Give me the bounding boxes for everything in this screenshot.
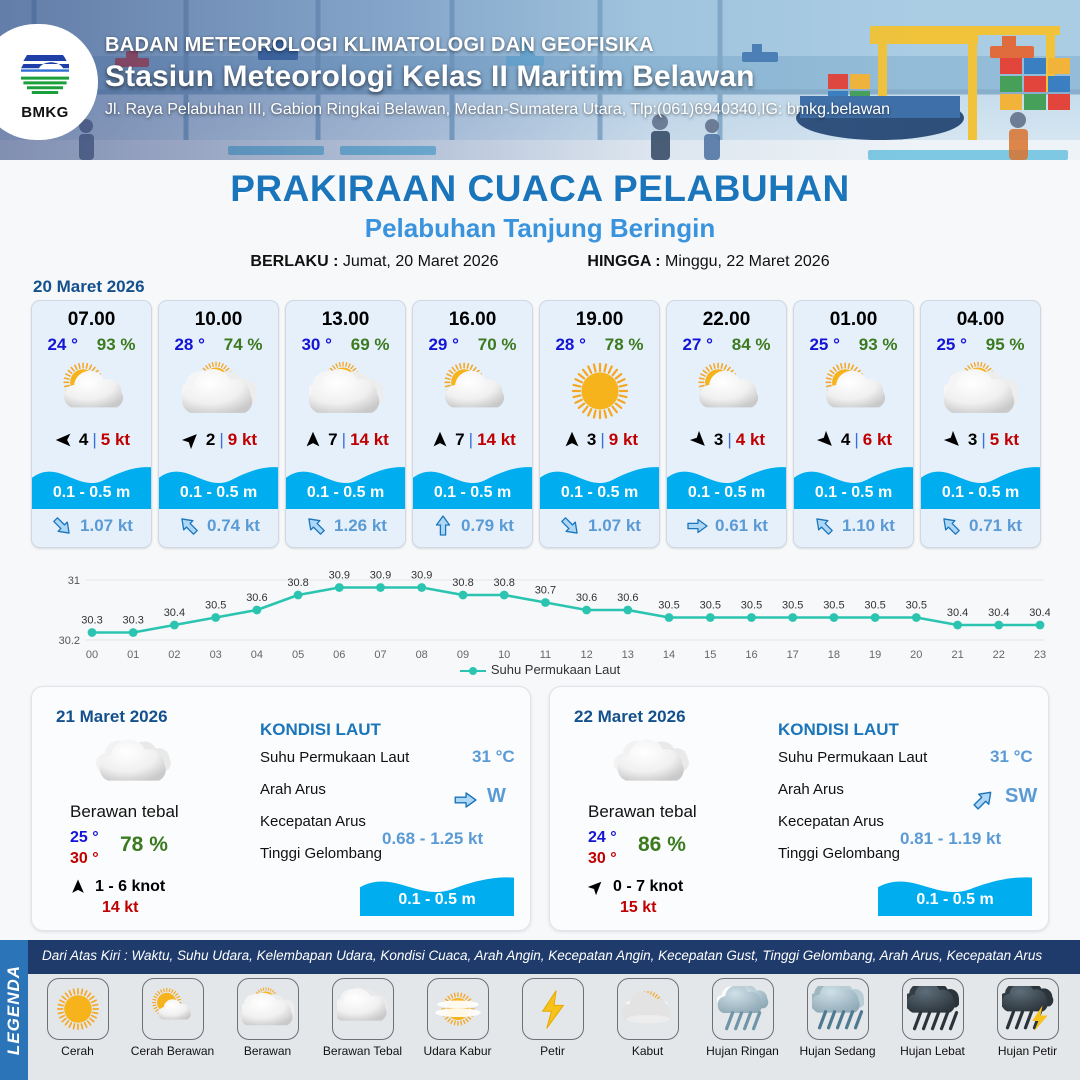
- wind-direction-arrow-icon: [688, 429, 710, 451]
- weather-sun-clouds-icon: [921, 357, 1040, 425]
- wind-direction-arrow-icon: [180, 429, 202, 451]
- legend-item: Hujan Sedang: [790, 978, 885, 1058]
- svg-text:30.4: 30.4: [164, 607, 185, 619]
- weather-haze-icon: [427, 978, 489, 1040]
- weather-cloud-icon: [612, 737, 696, 797]
- svg-text:05: 05: [292, 649, 304, 661]
- hingga-value: Minggu, 22 Maret 2026: [665, 253, 830, 270]
- card-current: 0.79 kt: [413, 509, 532, 543]
- legend-item-label: Hujan Petir: [998, 1044, 1057, 1058]
- wind-direction-arrow-icon: [429, 429, 451, 451]
- wind-speed: 4 kt: [736, 430, 765, 450]
- wind-direction-arrow-icon: [53, 429, 75, 451]
- card-current: 0.74 kt: [159, 509, 278, 543]
- card-current: 1.07 kt: [32, 509, 151, 543]
- svg-text:19: 19: [869, 649, 881, 661]
- wind-degree: 7: [455, 430, 464, 450]
- card-time: 01.00: [794, 309, 913, 331]
- card-wind: 3 | 4 kt: [667, 425, 786, 455]
- legend-item: Hujan Ringan: [695, 978, 790, 1058]
- card-wind: 7 | 14 kt: [413, 425, 532, 455]
- sst-chart-svg: 3130.230.30030.30130.40230.50330.60430.8…: [30, 558, 1050, 676]
- panel-temp-min: 24 °: [588, 829, 617, 847]
- weather-sun-clouds-icon: [237, 978, 299, 1040]
- card-wind: 3 | 5 kt: [921, 425, 1040, 455]
- svg-text:30.4: 30.4: [947, 607, 968, 619]
- svg-text:09: 09: [457, 649, 469, 661]
- weather-sun-cloud-icon: [413, 357, 532, 425]
- weather-sun-cloud-icon: [142, 978, 204, 1040]
- wind-speed: 14 kt: [477, 430, 516, 450]
- svg-text:30.9: 30.9: [329, 570, 350, 582]
- current-speed: 1.26 kt: [334, 516, 387, 536]
- svg-text:13: 13: [622, 649, 634, 661]
- svg-text:30.6: 30.6: [246, 592, 267, 604]
- chart-legend-label: Suhu Permukaan Laut: [491, 662, 620, 677]
- card-temp-humidity: 28 ° 78 %: [540, 335, 659, 355]
- wave-height: 0.1 - 0.5 m: [159, 484, 278, 502]
- card-humidity: 84 %: [732, 335, 771, 355]
- wind-degree: 3: [968, 430, 977, 450]
- sea-row-label: Kecepatan Arus: [260, 813, 366, 830]
- wind-speed: 9 kt: [609, 430, 638, 450]
- legenda-section: LEGENDA Dari Atas Kiri : Waktu, Suhu Uda…: [0, 940, 1080, 1080]
- svg-text:23: 23: [1034, 649, 1046, 661]
- hourly-forecast-row: 07.00 24 ° 93 % 4 | 5 kt 0.1 - 0.5: [31, 300, 1049, 548]
- sea-row-label: Suhu Permukaan Laut: [778, 749, 927, 766]
- legend-item: Hujan Lebat: [885, 978, 980, 1058]
- hingga-label: HINGGA :: [587, 253, 660, 270]
- svg-text:30.5: 30.5: [782, 600, 803, 612]
- panel-wave-height: 0.1 - 0.5 m: [360, 891, 514, 909]
- card-temp-humidity: 25 ° 93 %: [794, 335, 913, 355]
- hourly-card: 13.00 30 ° 69 % 7 | 14 kt: [285, 300, 406, 548]
- panel-date: 21 Maret 2026: [56, 707, 168, 727]
- current-speed-value: 0.68 - 1.25 kt: [382, 829, 483, 849]
- panel-humidity: 78 %: [120, 833, 168, 857]
- sea-row-label: Tinggi Gelombang: [260, 845, 382, 862]
- card-wave: 0.1 - 0.5 m: [794, 457, 913, 509]
- svg-text:30.3: 30.3: [122, 615, 143, 627]
- sea-row-label: Arah Arus: [260, 781, 326, 798]
- card-time: 13.00: [286, 309, 405, 331]
- card-temp-humidity: 24 ° 93 %: [32, 335, 151, 355]
- svg-text:30.4: 30.4: [1029, 607, 1050, 619]
- svg-text:30.8: 30.8: [452, 577, 473, 589]
- wind-direction-arrow-icon: [586, 877, 606, 897]
- weather-rain-moderate-icon: [807, 978, 869, 1040]
- legend-item: Hujan Petir: [980, 978, 1075, 1058]
- weather-sun-cloud-icon: [794, 357, 913, 425]
- hourly-card: 07.00 24 ° 93 % 4 | 5 kt 0.1 - 0.5: [31, 300, 152, 548]
- card-temperature: 25 °: [936, 335, 966, 355]
- current-speed: 1.07 kt: [588, 516, 641, 536]
- wind-direction-arrow-icon: [815, 429, 837, 451]
- wind-speed: 5 kt: [101, 430, 130, 450]
- card-temperature: 28 °: [555, 335, 585, 355]
- card-temp-humidity: 30 ° 69 %: [286, 335, 405, 355]
- svg-text:30.8: 30.8: [287, 577, 308, 589]
- current-direction-arrow-icon: [50, 514, 74, 538]
- card-temperature: 30 °: [301, 335, 331, 355]
- legend-item-label: Cerah: [61, 1044, 94, 1058]
- svg-text:07: 07: [374, 649, 386, 661]
- current-direction-arrow-icon: [685, 514, 709, 538]
- legenda-caption: Dari Atas Kiri : Waktu, Suhu Udara, Kele…: [42, 948, 1042, 963]
- svg-text:22: 22: [993, 649, 1005, 661]
- card-wave: 0.1 - 0.5 m: [667, 457, 786, 509]
- legenda-side-label: LEGENDA: [4, 965, 24, 1055]
- svg-text:06: 06: [333, 649, 345, 661]
- current-direction-arrow-icon: [812, 514, 836, 538]
- legend-item-label: Berawan Tebal: [323, 1044, 402, 1058]
- wind-degree: 2: [206, 430, 215, 450]
- svg-text:30.6: 30.6: [576, 592, 597, 604]
- sea-conditions-title: KONDISI LAUT: [260, 720, 381, 740]
- wind-speed: 9 kt: [228, 430, 257, 450]
- legend-item-label: Kabut: [632, 1044, 663, 1058]
- station-address: Jl. Raya Pelabuhan III, Gabion Ringkai B…: [105, 101, 890, 119]
- panel-condition: Berawan tebal: [588, 802, 697, 822]
- title-block: PRAKIRAAN CUACA PELABUHAN Pelabuhan Tanj…: [0, 168, 1080, 271]
- wave-height: 0.1 - 0.5 m: [286, 484, 405, 502]
- svg-text:15: 15: [704, 649, 716, 661]
- weather-sun-clouds-icon: [286, 357, 405, 425]
- card-temp-humidity: 29 ° 70 %: [413, 335, 532, 355]
- svg-text:11: 11: [540, 649, 551, 661]
- daily-summary-panel: 22 Maret 2026 Berawan tebal 24 ° 30 ° 86…: [549, 686, 1049, 931]
- hourly-date-label: 20 Maret 2026: [33, 277, 145, 297]
- svg-text:30.5: 30.5: [700, 600, 721, 612]
- page-title: PRAKIRAAN CUACA PELABUHAN: [0, 168, 1080, 210]
- svg-text:30.5: 30.5: [741, 600, 762, 612]
- card-wind: 4 | 6 kt: [794, 425, 913, 455]
- card-wave: 0.1 - 0.5 m: [159, 457, 278, 509]
- bmkg-emblem-icon: [15, 43, 75, 103]
- current-speed: 1.07 kt: [80, 516, 133, 536]
- legend-item: Cerah Berawan: [125, 978, 220, 1058]
- card-time: 07.00: [32, 309, 151, 331]
- card-humidity: 70 %: [478, 335, 517, 355]
- weather-sun-cloud-icon: [667, 357, 786, 425]
- card-humidity: 74 %: [224, 335, 263, 355]
- panel-wave: 0.1 - 0.5 m: [360, 868, 514, 916]
- hourly-card: 22.00 27 ° 84 % 3 | 4 kt 0.1 - 0.5: [666, 300, 787, 548]
- svg-text:21: 21: [951, 649, 963, 661]
- weather-cloud-icon: [94, 737, 178, 797]
- validity-line: BERLAKU : Jumat, 20 Maret 2026 HINGGA : …: [0, 253, 1080, 271]
- panel-wind-range: 1 - 6 knot: [95, 878, 165, 896]
- card-humidity: 93 %: [97, 335, 136, 355]
- legenda-caption-bar: Dari Atas Kiri : Waktu, Suhu Udara, Kele…: [28, 940, 1080, 974]
- card-time: 10.00: [159, 309, 278, 331]
- page-header: BMKG BADAN METEOROLOGI KLIMATOLOGI DAN G…: [0, 0, 1080, 160]
- current-speed: 0.71 kt: [969, 516, 1022, 536]
- svg-text:30.9: 30.9: [370, 570, 391, 582]
- weather-rain-light-icon: [712, 978, 774, 1040]
- panel-wind-range: 0 - 7 knot: [613, 878, 683, 896]
- panel-gust: 15 kt: [620, 899, 656, 917]
- card-temp-humidity: 25 ° 95 %: [921, 335, 1040, 355]
- legend-item-label: Udara Kabur: [423, 1044, 491, 1058]
- page-subtitle: Pelabuhan Tanjung Beringin: [0, 213, 1080, 244]
- svg-text:16: 16: [745, 649, 757, 661]
- svg-text:12: 12: [580, 649, 592, 661]
- current-direction-arrow-icon: [431, 514, 455, 538]
- weather-clouds-icon: [332, 978, 394, 1040]
- svg-text:30.5: 30.5: [205, 600, 226, 612]
- current-direction-arrow-icon: [939, 514, 963, 538]
- svg-text:20: 20: [910, 649, 922, 661]
- svg-text:30.3: 30.3: [81, 615, 102, 627]
- current-direction-arrow-icon: [970, 787, 996, 818]
- panel-gust: 14 kt: [102, 899, 138, 917]
- legend-item-label: Berawan: [244, 1044, 291, 1058]
- current-speed-value: 0.81 - 1.19 kt: [900, 829, 1001, 849]
- wind-degree: 4: [79, 430, 88, 450]
- panel-humidity: 86 %: [638, 833, 686, 857]
- card-temp-humidity: 27 ° 84 %: [667, 335, 786, 355]
- card-temperature: 24 °: [47, 335, 77, 355]
- svg-text:30.5: 30.5: [864, 600, 885, 612]
- svg-text:04: 04: [251, 649, 263, 661]
- card-time: 22.00: [667, 309, 786, 331]
- wind-speed: 6 kt: [863, 430, 892, 450]
- svg-text:30.5: 30.5: [658, 600, 679, 612]
- card-time: 16.00: [413, 309, 532, 331]
- legend-item-label: Hujan Sedang: [799, 1044, 875, 1058]
- card-wave: 0.1 - 0.5 m: [32, 457, 151, 509]
- wind-direction-arrow-icon: [68, 877, 88, 897]
- panel-temp-max: 30 °: [588, 850, 617, 868]
- daily-summary-panel: 21 Maret 2026 Berawan tebal 25 ° 30 ° 78…: [31, 686, 531, 931]
- card-current: 1.26 kt: [286, 509, 405, 543]
- svg-text:30.9: 30.9: [411, 570, 432, 582]
- card-humidity: 93 %: [859, 335, 898, 355]
- sea-row-label: Suhu Permukaan Laut: [260, 749, 409, 766]
- card-temperature: 27 °: [682, 335, 712, 355]
- weather-thunderstorm-icon: [997, 978, 1059, 1040]
- weather-rain-heavy-icon: [902, 978, 964, 1040]
- sea-row-label: Tinggi Gelombang: [778, 845, 900, 862]
- card-wind: 2 | 9 kt: [159, 425, 278, 455]
- wave-height: 0.1 - 0.5 m: [32, 484, 151, 502]
- sea-surface-temp-value: 31 °C: [472, 747, 515, 767]
- card-time: 04.00: [921, 309, 1040, 331]
- panel-wind: 1 - 6 knot: [68, 877, 165, 897]
- weather-sun-icon: [540, 357, 659, 425]
- chart-legend: Suhu Permukaan Laut: [0, 662, 1080, 677]
- wave-height: 0.1 - 0.5 m: [667, 484, 786, 502]
- card-wave: 0.1 - 0.5 m: [413, 457, 532, 509]
- panel-temp-max: 30 °: [70, 850, 99, 868]
- card-temperature: 25 °: [809, 335, 839, 355]
- berlaku-label: BERLAKU :: [250, 253, 338, 270]
- sea-conditions-title: KONDISI LAUT: [778, 720, 899, 740]
- legend-item: Cerah: [30, 978, 125, 1058]
- legenda-side-strip: LEGENDA: [0, 940, 28, 1080]
- wave-height: 0.1 - 0.5 m: [413, 484, 532, 502]
- berlaku-value: Jumat, 20 Maret 2026: [343, 253, 499, 270]
- wave-height: 0.1 - 0.5 m: [794, 484, 913, 502]
- panel-wave-height: 0.1 - 0.5 m: [878, 891, 1032, 909]
- wind-direction-arrow-icon: [302, 429, 324, 451]
- svg-text:17: 17: [787, 649, 799, 661]
- current-direction-arrow-icon: [558, 514, 582, 538]
- current-direction-arrow-icon: [177, 514, 201, 538]
- svg-text:00: 00: [86, 649, 98, 661]
- weather-lightning-icon: [522, 978, 584, 1040]
- sea-row-label: Kecepatan Arus: [778, 813, 884, 830]
- chart-legend-marker: [460, 670, 486, 672]
- svg-text:30.5: 30.5: [906, 600, 927, 612]
- svg-text:01: 01: [127, 649, 139, 661]
- card-temperature: 29 °: [428, 335, 458, 355]
- card-temp-humidity: 28 ° 74 %: [159, 335, 278, 355]
- card-current: 0.61 kt: [667, 509, 786, 543]
- hourly-card: 01.00 25 ° 93 % 4 | 6 kt 0.1 - 0.5: [793, 300, 914, 548]
- svg-text:30.5: 30.5: [823, 600, 844, 612]
- station-name: Stasiun Meteorologi Kelas II Maritim Bel…: [105, 60, 755, 94]
- card-wind: 3 | 9 kt: [540, 425, 659, 455]
- agency-name: BADAN METEOROLOGI KLIMATOLOGI DAN GEOFIS…: [105, 34, 654, 57]
- legend-item: Berawan: [220, 978, 315, 1058]
- sst-chart: 3130.230.30030.30130.40230.50330.60430.8…: [30, 558, 1050, 678]
- sea-surface-temp-value: 31 °C: [990, 747, 1033, 767]
- current-speed: 1.10 kt: [842, 516, 895, 536]
- card-humidity: 78 %: [605, 335, 644, 355]
- svg-text:18: 18: [828, 649, 840, 661]
- current-direction-arrow-icon: [304, 514, 328, 538]
- legend-item: Berawan Tebal: [315, 978, 410, 1058]
- wind-degree: 3: [587, 430, 596, 450]
- hourly-card: 04.00 25 ° 95 % 3 | 5 kt: [920, 300, 1041, 548]
- card-wave: 0.1 - 0.5 m: [286, 457, 405, 509]
- panel-temp-min: 25 °: [70, 829, 99, 847]
- weather-sun-clouds-icon: [159, 357, 278, 425]
- legenda-items: Cerah Cerah Berawan: [30, 978, 1076, 1058]
- wind-degree: 4: [841, 430, 850, 450]
- svg-text:02: 02: [168, 649, 180, 661]
- current-speed: 0.61 kt: [715, 516, 768, 536]
- daily-panels: 21 Maret 2026 Berawan tebal 25 ° 30 ° 78…: [31, 686, 1049, 931]
- current-speed: 0.74 kt: [207, 516, 260, 536]
- card-wave: 0.1 - 0.5 m: [921, 457, 1040, 509]
- current-direction-arrow-icon: [452, 787, 478, 818]
- panel-date: 22 Maret 2026: [574, 707, 686, 727]
- legend-item: Petir: [505, 978, 600, 1058]
- svg-text:30.4: 30.4: [988, 607, 1009, 619]
- svg-text:08: 08: [416, 649, 428, 661]
- svg-text:31: 31: [68, 575, 80, 587]
- card-temperature: 28 °: [174, 335, 204, 355]
- hourly-card: 16.00 29 ° 70 % 7 | 14 kt 0.1 - 0.: [412, 300, 533, 548]
- panel-wave: 0.1 - 0.5 m: [878, 868, 1032, 916]
- svg-text:30.2: 30.2: [59, 635, 80, 647]
- wind-direction-arrow-icon: [942, 429, 964, 451]
- wind-speed: 14 kt: [350, 430, 389, 450]
- legend-item: Udara Kabur: [410, 978, 505, 1058]
- hourly-card: 19.00 28 ° 78 % 3 | 9 kt 0.1 - 0.5 m: [539, 300, 660, 548]
- card-current: 1.07 kt: [540, 509, 659, 543]
- current-direction-value: W: [487, 785, 506, 808]
- legend-item-label: Hujan Lebat: [900, 1044, 965, 1058]
- wave-height: 0.1 - 0.5 m: [540, 484, 659, 502]
- weather-sun-cloud-icon: [32, 357, 151, 425]
- sea-row-label: Arah Arus: [778, 781, 844, 798]
- svg-text:30.8: 30.8: [493, 577, 514, 589]
- wave-height: 0.1 - 0.5 m: [921, 484, 1040, 502]
- hourly-card: 10.00 28 ° 74 % 2 | 9 kt: [158, 300, 279, 548]
- weather-sun-icon: [47, 978, 109, 1040]
- card-current: 1.10 kt: [794, 509, 913, 543]
- wind-degree: 7: [328, 430, 337, 450]
- current-direction-value: SW: [1005, 785, 1037, 808]
- panel-wind: 0 - 7 knot: [586, 877, 683, 897]
- legend-item: Kabut: [600, 978, 695, 1058]
- card-humidity: 95 %: [986, 335, 1025, 355]
- bmkg-logo-text: BMKG: [21, 104, 68, 121]
- panel-condition: Berawan tebal: [70, 802, 179, 822]
- card-time: 19.00: [540, 309, 659, 331]
- legend-item-label: Petir: [540, 1044, 565, 1058]
- wind-speed: 5 kt: [990, 430, 1019, 450]
- card-current: 0.71 kt: [921, 509, 1040, 543]
- wind-direction-arrow-icon: [561, 429, 583, 451]
- svg-text:10: 10: [498, 649, 510, 661]
- svg-text:30.7: 30.7: [535, 585, 556, 597]
- svg-text:14: 14: [663, 649, 675, 661]
- current-speed: 0.79 kt: [461, 516, 514, 536]
- svg-text:03: 03: [210, 649, 222, 661]
- legend-item-label: Cerah Berawan: [131, 1044, 214, 1058]
- card-wind: 7 | 14 kt: [286, 425, 405, 455]
- card-wave: 0.1 - 0.5 m: [540, 457, 659, 509]
- legend-item-label: Hujan Ringan: [706, 1044, 779, 1058]
- weather-fog-icon: [617, 978, 679, 1040]
- card-humidity: 69 %: [351, 335, 390, 355]
- svg-text:30.6: 30.6: [617, 592, 638, 604]
- wind-degree: 3: [714, 430, 723, 450]
- card-wind: 4 | 5 kt: [32, 425, 151, 455]
